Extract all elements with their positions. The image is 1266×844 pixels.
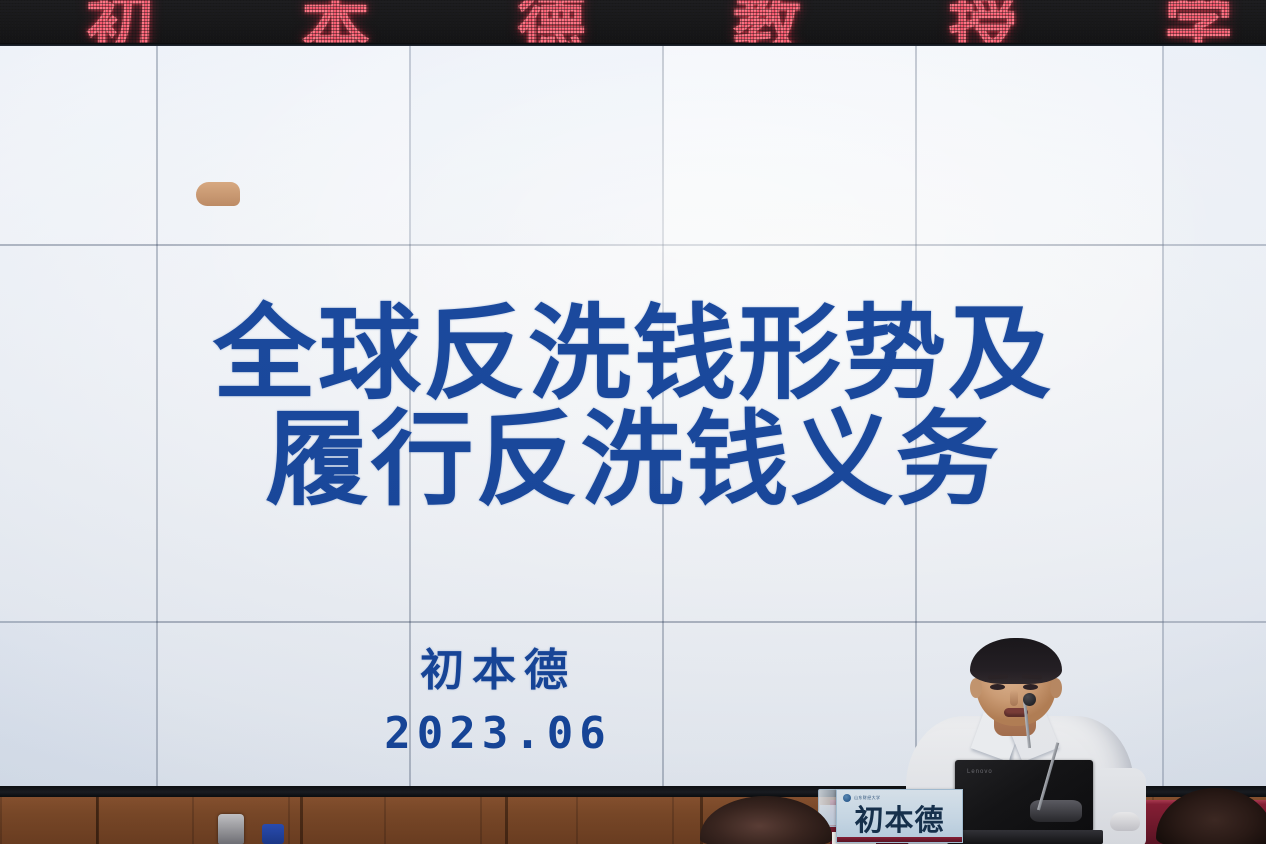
panel-shade [0, 46, 156, 244]
presenter-eye-left [990, 684, 1005, 690]
slide-title: 全球反洗钱形势及 履行反洗钱义务 [0, 301, 1266, 513]
presenter-hair [970, 638, 1062, 684]
audience-phone [262, 824, 284, 844]
video-wall-seam-horizontal [0, 244, 1266, 246]
computer-mouse[interactable] [1110, 812, 1140, 831]
slide-presenter-name: 初本德 [0, 634, 996, 698]
university-seal-icon [843, 794, 851, 802]
video-wall-seam-horizontal [0, 621, 1266, 623]
nameplate-base-strip [837, 837, 962, 842]
panel-shade [409, 46, 662, 244]
wood-panel-seam [96, 797, 99, 844]
slide-presenter-date: 2023.06 [0, 708, 996, 759]
lecture-hall-photo: 初 本 德 教 授 学 术 报 全球反洗钱形势及 履行反洗钱义务 初本德 202… [0, 0, 1266, 844]
slide-title-line-1: 全球反洗钱形势及 [0, 301, 1266, 407]
desk-nameplate: 山东财经大学 初本德 [836, 789, 963, 843]
laptop-base [947, 830, 1103, 844]
cabinet-handle[interactable] [218, 814, 244, 844]
nameplate-organization: 山东财经大学 [854, 795, 880, 801]
presenter-hand [196, 182, 240, 206]
presenter-eye-right [1023, 684, 1038, 690]
nameplate-name-text: 初本德 [837, 806, 962, 835]
led-banner-text: 初 本 德 教 授 学 术 报 [86, 0, 1266, 46]
wood-panel-seam [300, 797, 303, 844]
led-banner-bottom-edge [0, 43, 1266, 46]
microphone-capsule-icon [1023, 693, 1036, 706]
presenter-ear-right [1050, 678, 1062, 698]
slide-title-line-2: 履行反洗钱义务 [0, 407, 1266, 513]
led-marquee-banner: 初 本 德 教 授 学 术 报 [0, 0, 1266, 46]
presenter-ear-left [970, 678, 982, 698]
nameplate-header: 山东财经大学 [843, 794, 880, 802]
presenter-nose [1010, 690, 1018, 706]
wood-panel-seam [505, 797, 508, 844]
laptop-brand-logo: Lenovo [967, 769, 993, 775]
